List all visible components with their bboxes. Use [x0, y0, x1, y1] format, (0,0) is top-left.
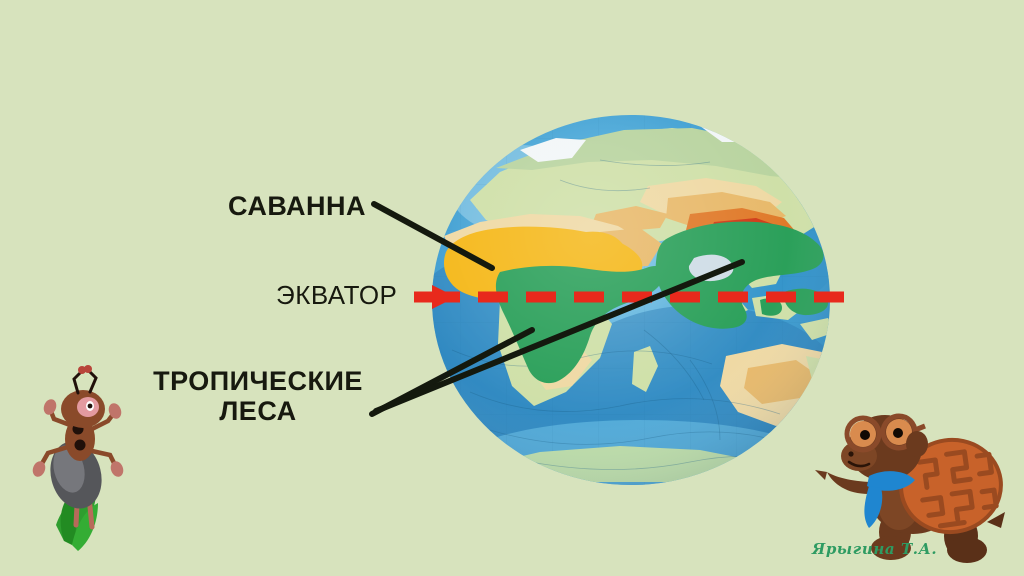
globe-surface — [410, 113, 850, 520]
turtle-eye-right — [893, 428, 903, 438]
slide-canvas: САВАННА ЭКВАТОР ТРОПИЧЕСКИЕ ЛЕСА Ярыгина… — [0, 0, 1024, 576]
label-equator: ЭКВАТОР — [276, 281, 397, 310]
ant-antennae — [74, 370, 96, 393]
cartoon-ant — [31, 365, 126, 551]
turtle-eye-left — [860, 430, 870, 440]
label-savanna: САВАННА — [228, 191, 366, 221]
globe — [410, 113, 850, 520]
author-signature: Ярыгина Т.А. — [812, 540, 937, 558]
label-tropical-forests: ТРОПИЧЕСКИЕ ЛЕСА — [146, 366, 370, 426]
illustration-stage — [0, 0, 1024, 576]
